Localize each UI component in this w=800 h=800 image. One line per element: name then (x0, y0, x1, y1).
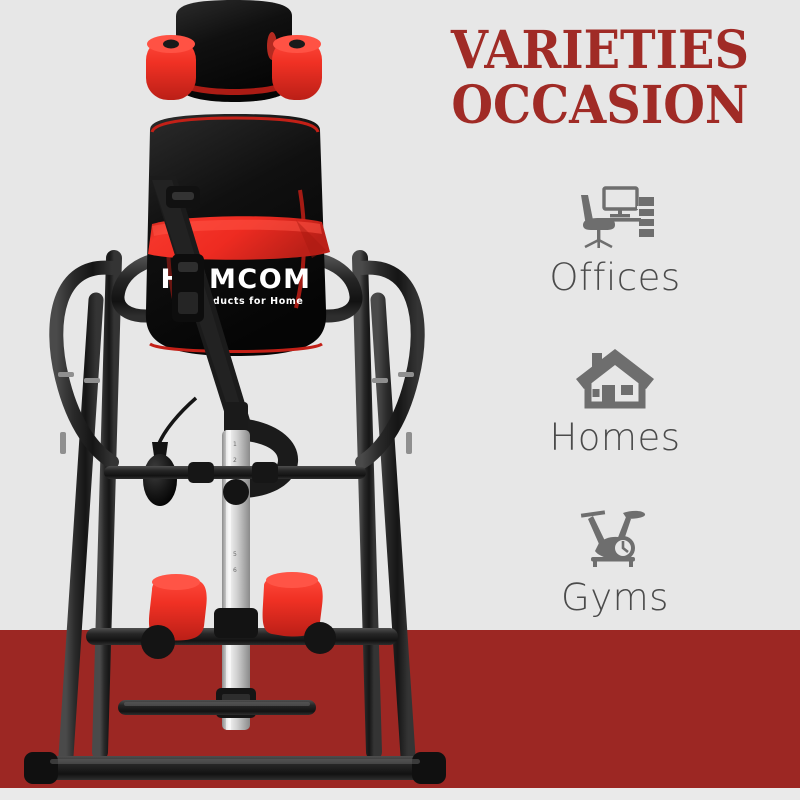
upright-right (360, 258, 374, 752)
product-banner: HOMCOM er Products for Home (0, 0, 800, 800)
feature-item-offices: Offices (470, 185, 760, 345)
product-image-inversion-table: HOMCOM er Products for Home (0, 0, 470, 800)
pump-assembly (143, 398, 196, 506)
upright-left (100, 258, 114, 752)
headline: VARIETIES OCCASION (410, 26, 790, 132)
a-frame-left (66, 300, 96, 756)
pump-bulb (143, 454, 177, 506)
center-column: 12 34 56 (216, 402, 256, 730)
feature-label-gyms: Gyms (470, 579, 760, 616)
a-frame-right (378, 300, 408, 756)
feature-label-homes: Homes (470, 419, 760, 456)
ankle-roller-left (141, 574, 207, 659)
svg-text:2: 2 (233, 457, 237, 464)
head-roller-right (272, 35, 322, 100)
headline-line-2: OCCASION (425, 81, 775, 132)
headline-line-1: VARIETIES (425, 26, 775, 77)
head-roller-left (146, 35, 196, 100)
svg-text:6: 6 (233, 567, 237, 574)
office-desk-icon (470, 185, 760, 249)
svg-text:1: 1 (233, 441, 237, 448)
feature-item-gyms: Gyms (470, 505, 760, 665)
feature-label-offices: Offices (470, 259, 760, 296)
foot-rest-bar (118, 700, 316, 715)
feature-item-homes: Homes (470, 345, 760, 505)
ankle-clamp (214, 608, 258, 638)
house-icon (470, 345, 760, 409)
exercise-bike-icon (470, 505, 760, 569)
feature-list: Offices Homes (470, 185, 760, 665)
base-stabilizer-bar (24, 752, 446, 784)
svg-text:5: 5 (233, 551, 237, 558)
